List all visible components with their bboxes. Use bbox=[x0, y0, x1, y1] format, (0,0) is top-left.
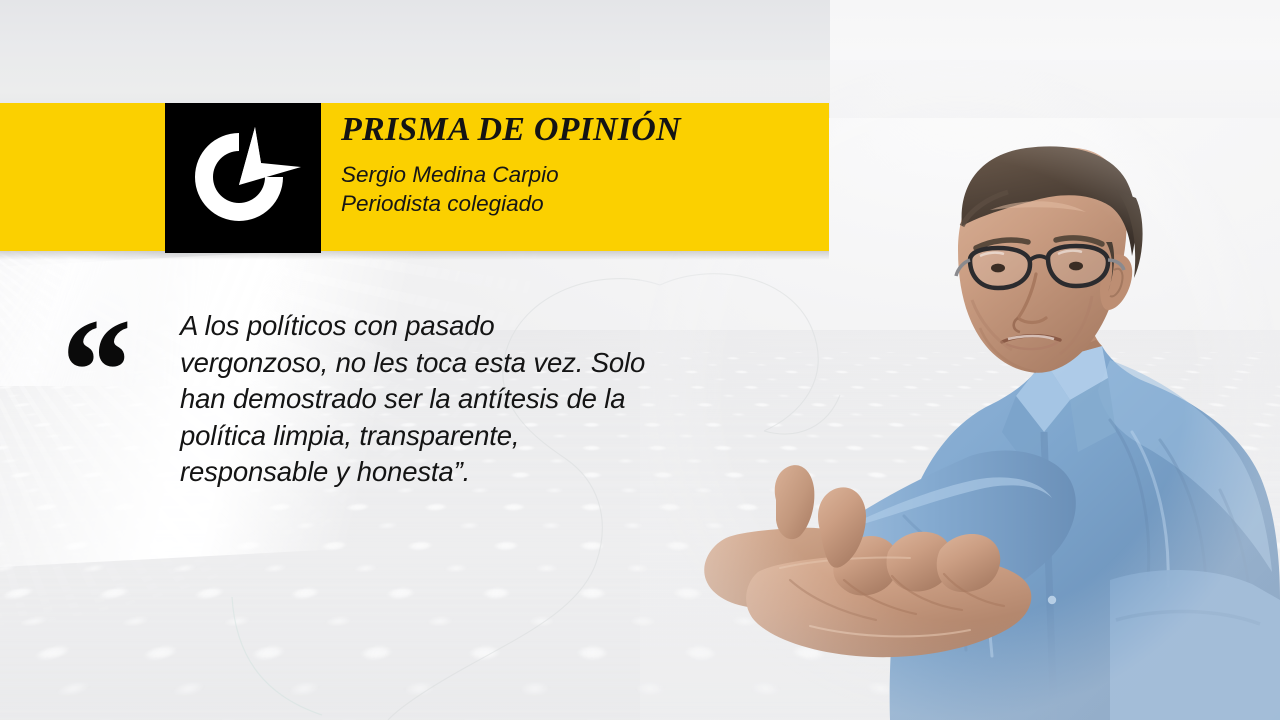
opinion-card: PRISMA DE OPINIÓN Sergio Medina Carpio P… bbox=[0, 0, 1280, 720]
quotation-mark-icon: “ bbox=[54, 296, 123, 446]
prisma-circular-arrow-logo bbox=[177, 113, 309, 243]
quote-line: política limpia, transparente, bbox=[180, 418, 710, 455]
quote-line: vergonzoso, no les toca esta vez. Solo bbox=[180, 345, 710, 382]
banner-title: PRISMA DE OPINIÓN bbox=[341, 113, 811, 147]
logo-box bbox=[165, 103, 321, 253]
quote-text: A los políticos con pasado vergonzoso, n… bbox=[180, 308, 710, 491]
banner-shadow bbox=[0, 251, 829, 260]
banner-author: Sergio Medina Carpio bbox=[341, 160, 811, 189]
quote-line: responsable y honesta”. bbox=[180, 454, 710, 491]
quote-line: A los políticos con pasado bbox=[180, 308, 710, 345]
quote-line: han demostrado ser la antítesis de la bbox=[180, 381, 710, 418]
banner-text-block: PRISMA DE OPINIÓN Sergio Medina Carpio P… bbox=[341, 113, 811, 219]
banner-role: Periodista colegiado bbox=[341, 189, 811, 218]
